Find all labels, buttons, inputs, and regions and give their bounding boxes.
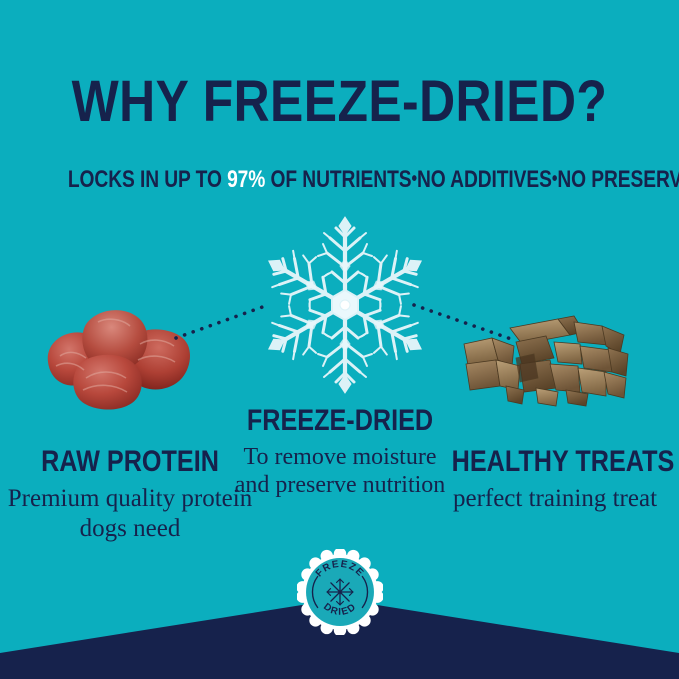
- claim-locks-in-suffix: OF NUTRIENTS: [265, 166, 411, 193]
- nutrient-claims-subtitle: LOCKS IN UP TO 97% OF NUTRIENTS•NO ADDIT…: [68, 168, 611, 192]
- connector-dots-right: [410, 296, 518, 348]
- column-body-healthy-treats: perfect training treat: [432, 484, 678, 514]
- page-title: WHY FREEZE-DRIED?: [48, 73, 632, 131]
- claim-no-preservatives: NO PRESERVATIVES: [557, 166, 679, 193]
- claim-locks-in-prefix: LOCKS IN UP TO: [68, 166, 227, 193]
- connector-dots-left: [172, 296, 272, 346]
- column-body-raw-protein: Premium quality protein dogs need: [6, 484, 254, 543]
- nutrient-percent-value: 97%: [227, 166, 265, 193]
- freeze-dried-seal-badge: FREEZE DRIED: [297, 549, 383, 635]
- infographic-canvas: WHY FREEZE-DRIED? LOCKS IN UP TO 97% OF …: [0, 0, 679, 679]
- column-freeze-dried: FREEZE-DRIED To remove moisture and pres…: [225, 406, 455, 500]
- column-healthy-treats: HEALTHY TREATS perfect training treat: [432, 447, 678, 514]
- column-body-freeze-dried: To remove moisture and preserve nutritio…: [225, 443, 455, 500]
- column-heading-raw-protein: RAW PROTEIN: [26, 447, 234, 477]
- claim-no-additives: NO ADDITIVES: [417, 166, 552, 193]
- column-raw-protein: RAW PROTEIN Premium quality protein dogs…: [6, 447, 254, 543]
- column-heading-freeze-dried: FREEZE-DRIED: [243, 406, 436, 436]
- snowflake-icon: [327, 579, 353, 605]
- column-heading-healthy-treats: HEALTHY TREATS: [452, 447, 659, 477]
- snowflake-crystal-image: [256, 216, 434, 394]
